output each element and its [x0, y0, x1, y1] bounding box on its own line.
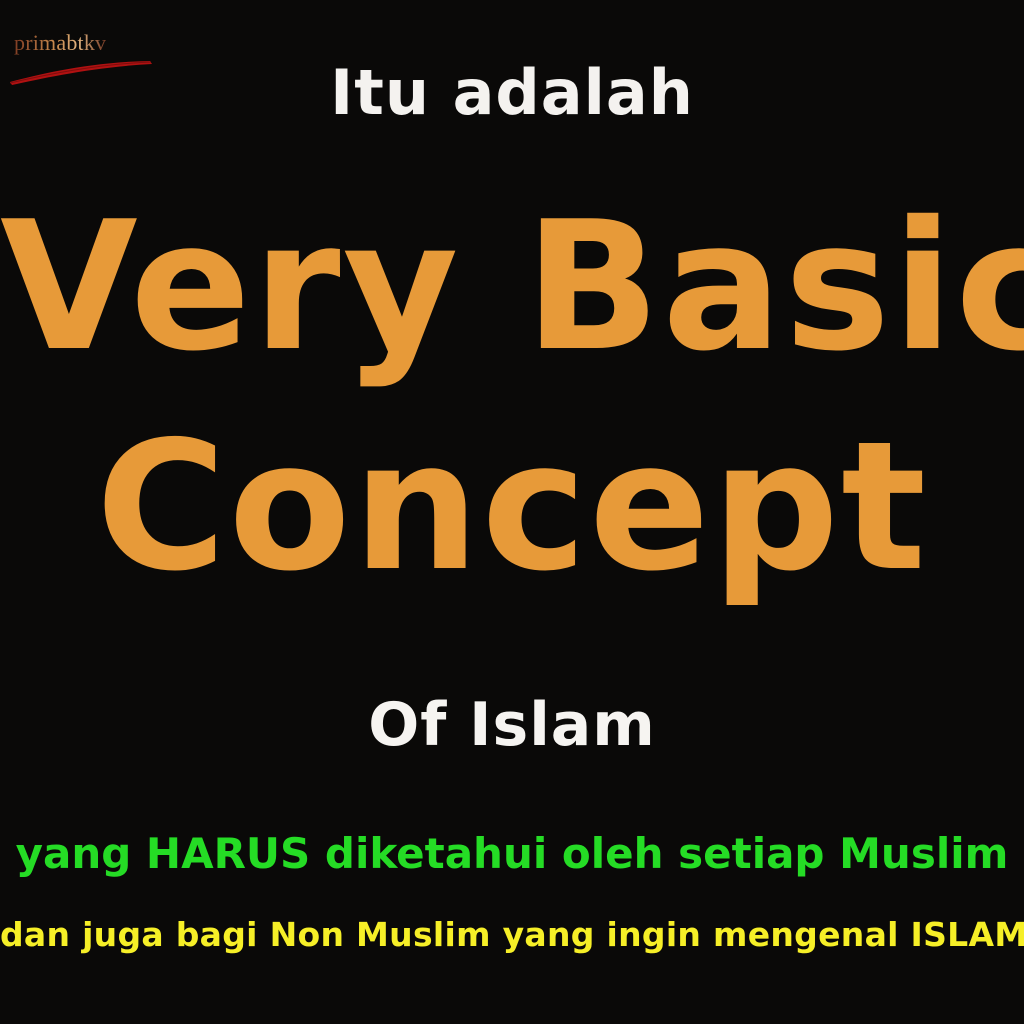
kicker-text: Itu adalah — [0, 62, 1024, 124]
watermark-text: primabtkv — [14, 30, 106, 56]
poster-canvas: primabtkv Itu adalah Very Basic Concept … — [0, 0, 1024, 1024]
headline-line-1: Very Basic — [0, 200, 1024, 374]
headline-line-2: Concept — [0, 420, 1024, 594]
subhead-text: Of Islam — [0, 695, 1024, 755]
note-yellow-text: dan juga bagi Non Muslim yang ingin meng… — [0, 918, 1024, 951]
note-green-text: yang HARUS diketahui oleh setiap Muslim — [0, 833, 1024, 875]
